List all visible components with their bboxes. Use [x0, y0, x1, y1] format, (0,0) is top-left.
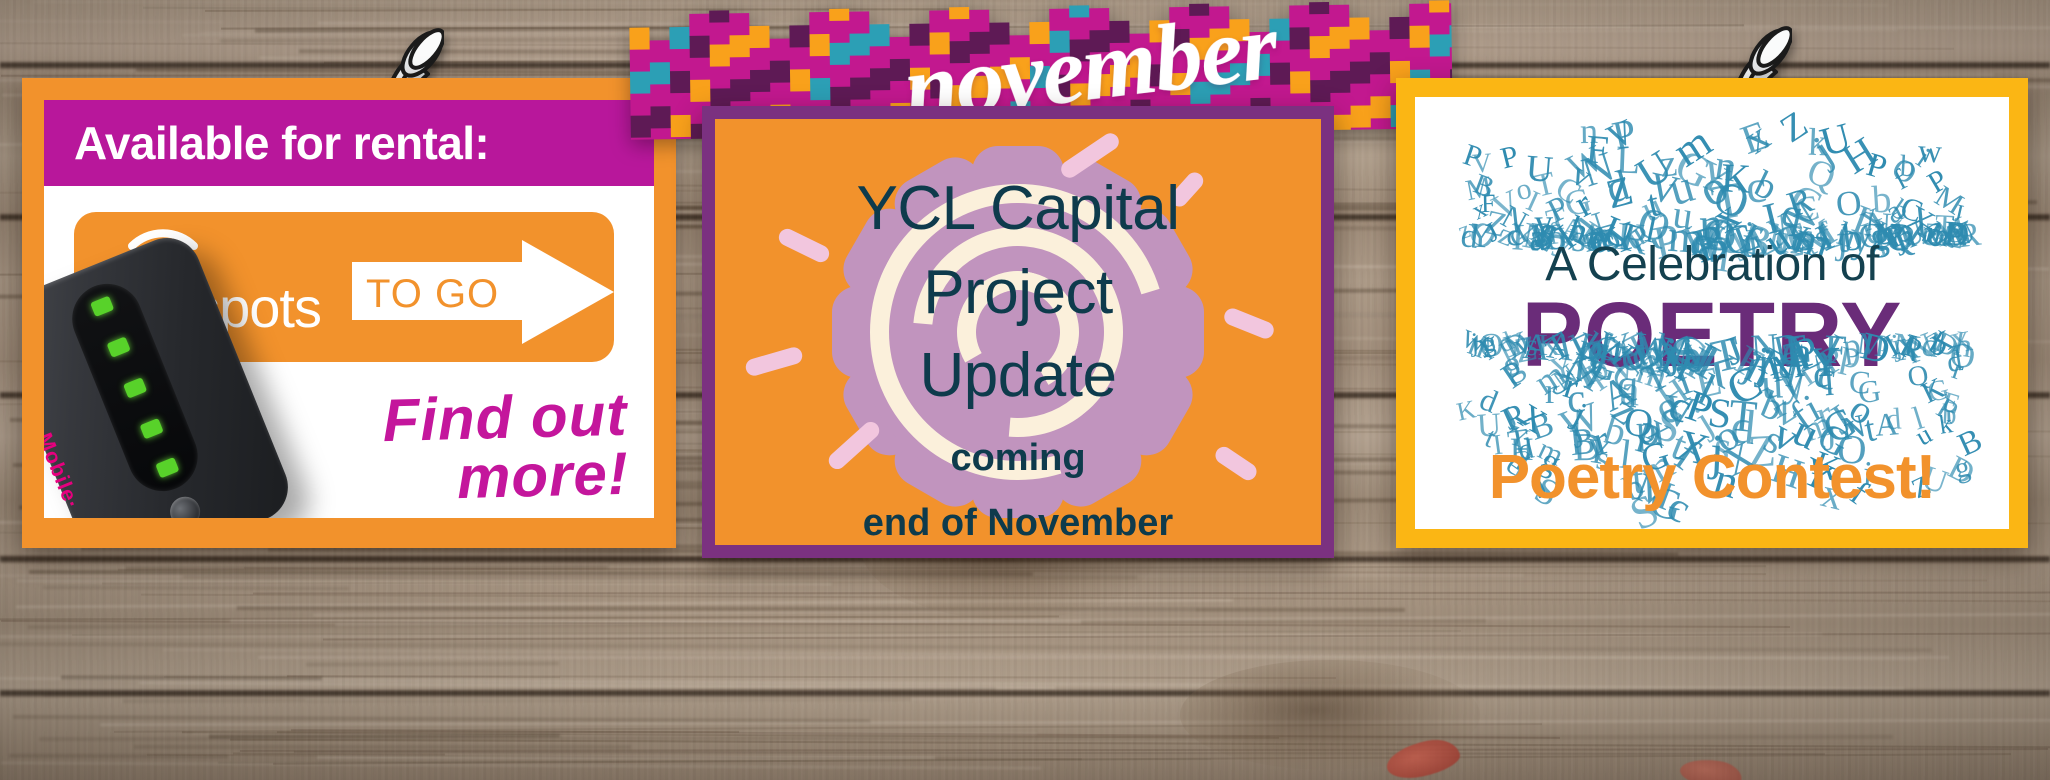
cloud-letter: R — [1497, 396, 1533, 438]
cloud-letter: U — [1525, 150, 1555, 189]
cloud-letter: q — [1777, 191, 1806, 236]
led-wifi — [107, 336, 131, 357]
chevron-step — [631, 137, 651, 139]
cloud-letter: k — [1937, 410, 1954, 438]
cloud-letter: P — [1542, 190, 1574, 229]
cloud-letter: Q — [1803, 153, 1841, 197]
cloud-letter: V — [1660, 387, 1699, 436]
led-battery — [140, 418, 164, 439]
cloud-letter: v — [1566, 156, 1597, 194]
cloud-letter: M — [1931, 180, 1970, 220]
cloud-letter: V — [1471, 150, 1493, 179]
cloud-letter: I — [1522, 185, 1544, 217]
cloud-letter: i — [1912, 143, 1936, 172]
cloud-letter: C — [1550, 170, 1587, 210]
cloud-letter: C — [1783, 176, 1828, 227]
cloud-letter: u — [1664, 163, 1699, 215]
cloud-letter: I — [1847, 198, 1874, 241]
cloud-letter: W — [1562, 140, 1609, 188]
cloud-letter: R — [1782, 181, 1817, 223]
cloud-letter: V — [1486, 183, 1525, 227]
cloud-letter: B — [1469, 169, 1497, 203]
cloud-letter: I — [1759, 195, 1784, 242]
cloud-letter: Z — [1775, 105, 1815, 149]
cloud-letter: j — [1568, 398, 1591, 432]
cloud-letter: M — [1463, 172, 1494, 206]
led-power — [155, 457, 179, 478]
cloud-letter: b — [1755, 384, 1789, 428]
cloud-letter: a — [1880, 195, 1908, 230]
cloud-letter: b — [1749, 165, 1783, 208]
cloud-letter: Y — [1692, 153, 1736, 202]
cloud-letter: k — [1808, 124, 1829, 164]
hotspot-card-inner: Available for rental: Hotspots TO GO — [44, 100, 654, 518]
capital-card-inner: YCL Capital Project Update coming end of… — [715, 119, 1321, 545]
cloud-letter: n — [1712, 143, 1740, 189]
headline-line-2: Project — [715, 251, 1321, 335]
cloud-letter: u — [1636, 188, 1669, 230]
cloud-letter: x — [1468, 196, 1491, 225]
cloud-letter: e — [1646, 383, 1689, 434]
capital-project-update-card[interactable]: YCL Capital Project Update coming end of… — [702, 106, 1334, 558]
cloud-letter: U — [1476, 409, 1502, 444]
poetry-contest-card[interactable]: MHKtdnBCMOGzzIPFqbuGUbcLQITubuEaGjRLVCls… — [1396, 78, 2028, 548]
subtext-line-1: coming — [715, 434, 1321, 483]
cloud-letter: J — [1823, 398, 1860, 442]
hotspot-rental-card[interactable]: Available for rental: Hotspots TO GO — [22, 78, 676, 548]
cloud-letter: V — [1602, 113, 1640, 156]
cloud-letter: n — [1579, 113, 1598, 150]
cloud-letter: o — [1691, 162, 1736, 217]
cloud-letter: c — [1744, 163, 1768, 210]
cloud-letter: S — [1706, 392, 1734, 437]
cloud-letter: T — [1531, 167, 1558, 203]
cloud-letter: x — [1706, 193, 1747, 240]
cloud-letter: K — [1455, 397, 1479, 426]
find-out-more-cta[interactable]: Find out more! — [297, 386, 630, 512]
cloud-letter: L — [1615, 141, 1641, 182]
cloud-letter: G — [1561, 182, 1595, 223]
cloud-letter: l — [1758, 381, 1792, 428]
cloud-letter: x — [1853, 195, 1887, 239]
cloud-letter: G — [1668, 141, 1718, 196]
cloud-letter: r — [1812, 393, 1838, 439]
arrow-head — [522, 240, 614, 344]
cloud-letter: J — [1496, 401, 1523, 435]
led-signal — [90, 296, 114, 317]
led-message — [123, 377, 147, 398]
headline-line-3: Update — [715, 334, 1321, 418]
cloud-letter: C — [1791, 190, 1822, 230]
capital-card-text: YCL Capital Project Update coming end of… — [715, 167, 1321, 545]
cloud-letter: F — [1481, 191, 1496, 218]
cloud-letter: P — [1863, 148, 1891, 186]
cloud-letter: b — [1941, 400, 1957, 430]
cloud-letter: W — [1555, 396, 1605, 447]
cloud-letter: x — [1738, 115, 1778, 161]
cloud-letter: E — [1939, 388, 1963, 420]
cloud-letter: J — [1950, 202, 1965, 228]
cloud-letter: t — [1644, 184, 1663, 224]
cloud-letter: T — [1708, 174, 1747, 229]
cloud-letter: R — [1931, 392, 1964, 429]
cloud-letter: b — [1886, 195, 1914, 227]
cloud-letter: K — [1720, 158, 1752, 201]
cloud-letter: N — [1495, 200, 1532, 240]
cloud-letter: F — [1584, 129, 1610, 171]
cloud-letter: O — [1834, 185, 1863, 223]
cloud-letter: l — [1909, 403, 1928, 437]
cloud-letter: o — [1843, 388, 1881, 432]
cloud-letter: V — [1645, 165, 1683, 211]
cloud-letter: m — [1666, 118, 1719, 174]
cloud-letter: P — [1460, 139, 1486, 174]
cloud-letter: O — [1886, 153, 1922, 191]
cloud-letter: d — [1601, 164, 1633, 212]
cloud-letter: P — [1923, 164, 1953, 198]
cloud-letter: C — [1896, 191, 1926, 228]
cloud-letter: b — [1871, 180, 1893, 220]
cloud-letter: j — [1807, 130, 1840, 172]
cloud-letter: z — [1764, 388, 1803, 434]
cloud-letter: U — [1816, 117, 1855, 164]
headline-line-1: YCL Capital — [715, 167, 1321, 251]
cloud-letter: f — [1890, 166, 1912, 196]
cloud-letter: w — [1917, 135, 1943, 169]
cloud-letter: Q — [1621, 401, 1656, 445]
cloud-letter: U — [1630, 144, 1680, 198]
cloud-letter: O — [1708, 172, 1755, 226]
cloud-letter: P — [1680, 383, 1717, 433]
cta-line-2: more! — [456, 440, 629, 511]
cloud-letter: z — [1605, 389, 1644, 434]
poetry-contest-cta[interactable]: Poetry Contest! — [1415, 442, 2009, 513]
cloud-letter: o — [1513, 173, 1534, 206]
cloud-letter: T — [1544, 202, 1572, 239]
rental-header-bar: Available for rental: — [44, 100, 654, 186]
cloud-letter: H — [1836, 131, 1884, 182]
to-go-label: TO GO — [366, 272, 499, 317]
subtext-line-2: end of November — [715, 499, 1321, 545]
scattered-letters-cloud-top: MHKtdnBCMOGzzIPFqbuGUbcLQITubuEaGjRLVCls… — [1415, 97, 2009, 229]
cloud-letter: E — [1735, 114, 1773, 161]
poetry-card-inner: MHKtdnBCMOGzzIPFqbuGUbcLQITubuEaGjRLVCls… — [1415, 97, 2009, 529]
cloud-letter: c — [1663, 382, 1700, 431]
cloud-letter: P — [1609, 112, 1640, 157]
cloud-letter: b — [1899, 150, 1916, 181]
cloud-letter: B — [1525, 406, 1558, 446]
cloud-letter: Z — [1602, 170, 1637, 216]
cloud-letter: X — [1513, 398, 1552, 440]
rental-header-text: Available for rental: — [74, 116, 489, 170]
cloud-letter: j — [1689, 400, 1720, 441]
cloud-letter: P — [1498, 141, 1522, 175]
right-arrow-icon: TO GO — [352, 240, 614, 344]
cloud-letter: u — [1671, 194, 1696, 236]
cloud-letter: A — [1873, 407, 1898, 441]
cloud-letter: i — [1799, 388, 1828, 429]
cloud-letter: z — [1658, 145, 1679, 185]
cloud-letter: T — [1727, 393, 1759, 441]
poetry-wordmark: POETRY — [1415, 283, 2009, 388]
cloud-letter: d — [1885, 403, 1903, 435]
cloud-letter: r — [1569, 184, 1598, 224]
cloud-letter: f — [1783, 396, 1818, 439]
cloud-letter: N — [1578, 146, 1620, 195]
cloud-letter: N — [1839, 410, 1869, 447]
